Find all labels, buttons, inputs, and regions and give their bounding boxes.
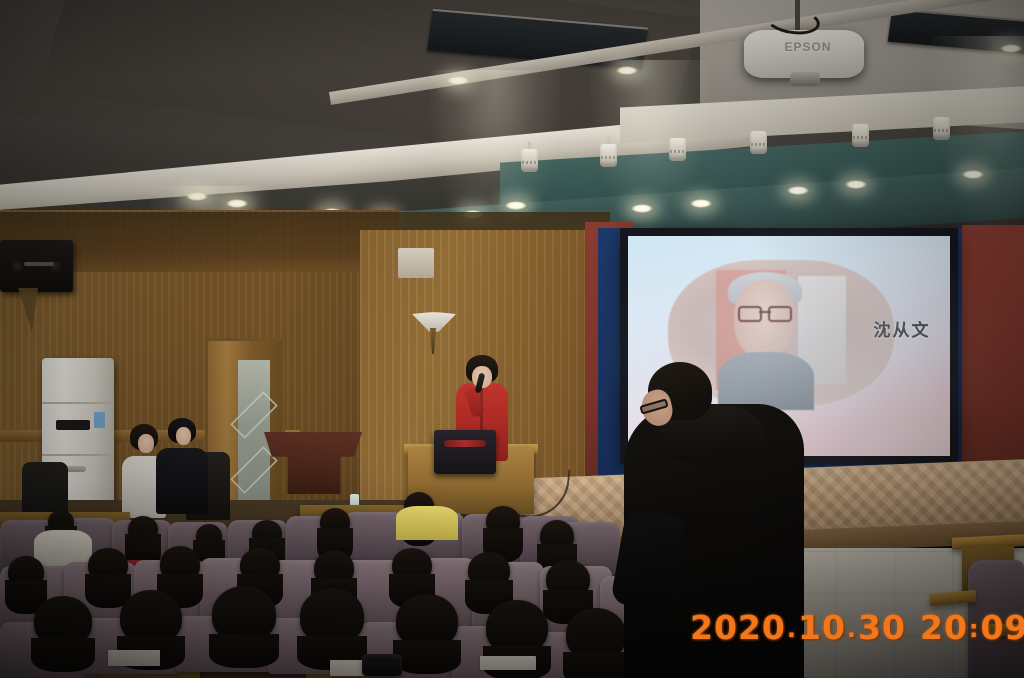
av-audio-unit (434, 430, 496, 474)
notebook-paper (108, 650, 160, 666)
track-spotlight-icon (521, 142, 538, 172)
audience-head-foreground (396, 594, 458, 648)
audience-head (252, 520, 282, 546)
audience-head (160, 546, 200, 582)
timestamp-month: 10 (798, 608, 846, 647)
audience-head-foreground (566, 608, 626, 660)
track-spotlight-icon (852, 117, 869, 147)
audience-head (240, 548, 280, 582)
projector-body (744, 30, 864, 78)
timestamp-sep: . (846, 615, 858, 643)
downlight-icon (505, 201, 527, 210)
projector-brand-label: EPSON (770, 40, 846, 54)
audience-head-foreground (212, 586, 276, 642)
audience-head (468, 552, 510, 588)
downlight-icon (447, 76, 469, 85)
timestamp-sep: . (786, 615, 798, 643)
audience-head (540, 520, 574, 552)
projector-lens (790, 72, 820, 86)
audience-head (8, 556, 44, 588)
audience-head-foreground (300, 588, 364, 644)
timestamp-hour: 20 (920, 608, 968, 647)
track-spotlight-icon (933, 110, 950, 140)
ac-display-panel (56, 420, 90, 430)
track-spotlight-icon (750, 124, 767, 154)
audience-head-foreground (34, 596, 92, 646)
seated-person-jacket (156, 448, 208, 514)
audience-head (486, 506, 520, 536)
downlight-icon (787, 186, 809, 195)
slide-title-text: 沈从文 (860, 316, 944, 341)
speaker-bracket (18, 288, 38, 332)
timestamp-year: 2020 (690, 608, 786, 647)
audience-torso-white (34, 530, 92, 566)
downlight-icon (616, 66, 638, 75)
downlight-icon (690, 199, 712, 208)
audience-head-foreground (120, 590, 182, 644)
audience-head (128, 516, 158, 542)
downlight-icon (631, 204, 653, 213)
track-spotlight-icon (600, 137, 617, 167)
notebook-paper (480, 656, 536, 670)
wall-speaker (0, 240, 73, 292)
slide-portrait-glasses (738, 306, 792, 318)
audience-head (196, 524, 222, 548)
audience-head (320, 508, 350, 536)
downlight-icon (1000, 44, 1022, 53)
downlight-icon (186, 192, 208, 201)
audience-head (88, 548, 128, 582)
audience-head (546, 560, 590, 598)
audience-head (392, 548, 432, 582)
photograph-canvas: EPSON (0, 0, 1024, 678)
wall-control-box[interactable] (398, 248, 434, 278)
track-spotlight-icon (669, 131, 686, 161)
timestamp-day: 30 (858, 608, 906, 647)
timestamp-minute: 09 (981, 608, 1024, 647)
ac-label-sticker (94, 412, 105, 428)
speaker-grille-bar (24, 262, 54, 266)
seated-person-black-jacket (156, 418, 210, 518)
downlight-icon (845, 180, 867, 189)
audience-head (314, 550, 354, 586)
bag-on-desk (362, 654, 402, 676)
seated-person-face (176, 427, 191, 445)
seated-person-face (138, 434, 154, 453)
camera-timestamp: 2020.10.3020:09 (690, 608, 1024, 647)
downlight-icon (226, 199, 248, 208)
downlight-icon (962, 170, 984, 179)
audience-torso-yellow (396, 506, 458, 540)
audience-head-foreground (486, 600, 548, 654)
timestamp-sep: : (968, 615, 981, 643)
